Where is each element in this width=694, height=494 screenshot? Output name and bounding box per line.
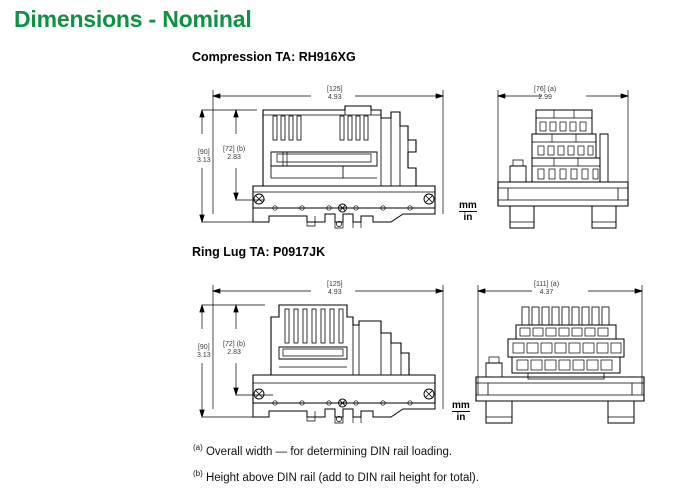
drawing-ring-lug-front-view	[470, 277, 670, 427]
din-rail-base	[253, 375, 435, 423]
module-side-profile	[263, 106, 416, 186]
side-boss	[486, 363, 502, 377]
dimension-label-width-125: [125] 4.93	[327, 86, 343, 102]
footnotes: (a) Overall width — for determining DIN …	[193, 437, 663, 489]
base-plate	[498, 182, 628, 228]
unit-mm: mm	[452, 400, 470, 412]
footnote-b: (b) Height above DIN rail (add to DIN ra…	[193, 463, 663, 489]
unit-mm: mm	[459, 200, 477, 212]
unit-legend-top: mm in	[459, 200, 477, 223]
unit-in: in	[459, 212, 477, 223]
footnote-text-a: Overall width — for determining DIN rail…	[206, 446, 452, 458]
dimension-label-height-90-2: [90] 3.13	[197, 344, 211, 360]
drawing-compression-front-view	[488, 82, 663, 232]
terminal-block-stack	[532, 110, 608, 182]
dimension-label-width-125-2: [125] 4.93	[327, 281, 343, 297]
section-heading-compression: Compression TA: RH916XG	[192, 50, 356, 64]
footnote-marker-b: (b)	[193, 469, 203, 478]
side-boss	[510, 166, 526, 182]
din-rail-base	[253, 186, 435, 228]
module-side-profile	[271, 305, 409, 375]
page-title: Dimensions - Nominal	[14, 6, 252, 33]
section-heading-ring-lug: Ring Lug TA: P0917JK	[192, 245, 325, 259]
unit-legend-bottom: mm in	[452, 400, 470, 423]
dimension-label-height-72-2: [72] (b) 2.83	[223, 341, 245, 357]
ring-lug-terminal-array	[508, 307, 624, 379]
footnote-text-b: Height above DIN rail (add to DIN rail h…	[206, 472, 479, 484]
footnote-marker-a: (a)	[193, 443, 203, 452]
dimension-height-90	[200, 305, 265, 417]
dimension-label-height-90: [90] 3.13	[197, 149, 211, 165]
base-plate	[476, 377, 644, 423]
dimension-height-90	[200, 110, 257, 222]
dimension-label-width-111: [111] (a) 4.37	[534, 281, 559, 297]
dimension-label-height-72: [72] (b) 2.83	[223, 146, 245, 162]
dimension-label-width-76: [76] (a) 2.99	[534, 86, 556, 102]
unit-in: in	[452, 412, 470, 423]
footnote-a: (a) Overall width — for determining DIN …	[193, 437, 663, 463]
dimension-width-111	[478, 285, 642, 395]
